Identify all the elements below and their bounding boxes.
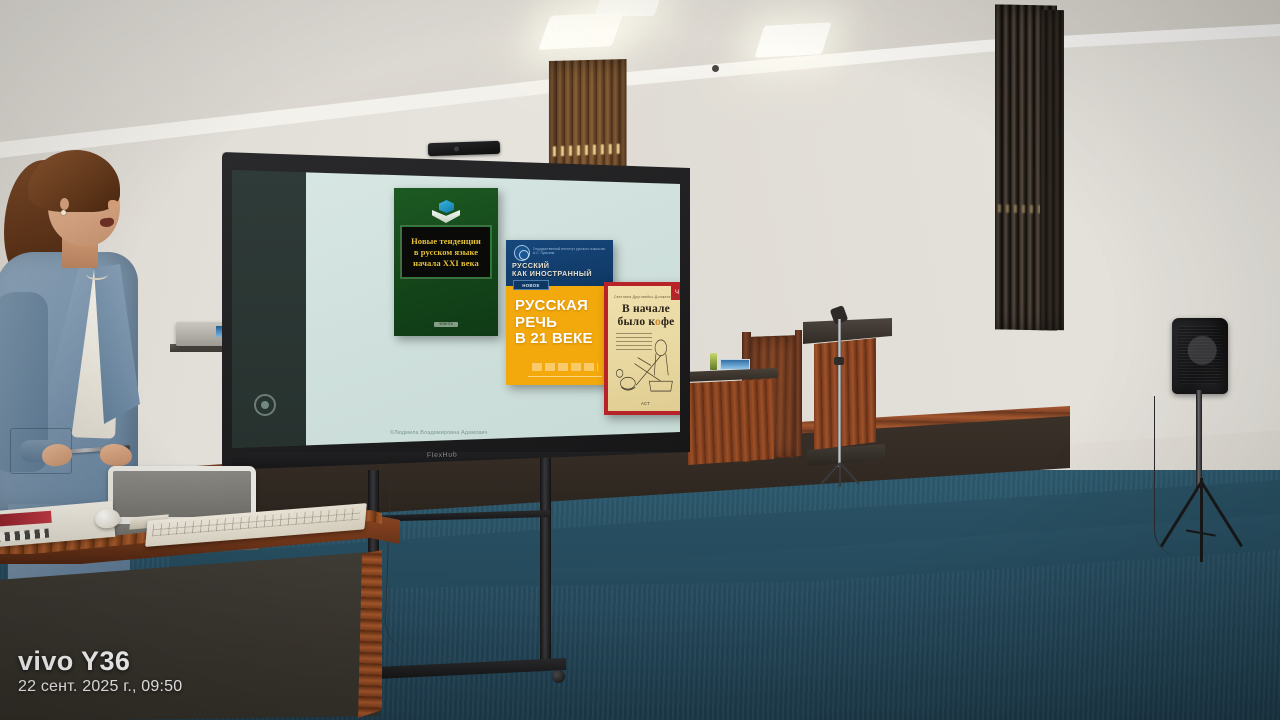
lecture-hall-photo: Новые тенденции в русском языке начала X… xyxy=(0,0,1280,720)
camera-watermark: vivo Y36 22 сент. 2025 г., 09:50 xyxy=(18,646,182,698)
necklace-icon xyxy=(86,268,108,280)
book2-subtitle-bar xyxy=(532,363,598,371)
cart-post-right xyxy=(540,458,551,670)
book3-title-line-1: В начале xyxy=(613,303,679,316)
speaker-cabinet xyxy=(1172,318,1228,394)
info-card xyxy=(720,359,750,370)
book-cover-russkaya-rech: Государственный институт русского языка … xyxy=(506,240,613,385)
book3-line-drawing-icon xyxy=(613,336,679,395)
ceiling-light-panel xyxy=(538,12,623,50)
ceiling-light-panel xyxy=(754,22,831,57)
book-cover-v-nachale-bylo-kofe: Ч Светлана Друговейко-Должанская В начал… xyxy=(604,282,680,415)
book1-title-line-2: в русском языке xyxy=(414,247,478,257)
book3-title: В начале было кофе xyxy=(613,303,679,329)
slide-credit-text: ©Людмила Владимировна Адамович xyxy=(390,430,488,436)
presenter-ear xyxy=(60,198,69,210)
book2-badge: НОВОЕ xyxy=(513,280,549,290)
institute-seal-icon xyxy=(514,245,530,261)
side-table xyxy=(684,368,778,474)
mic-pole xyxy=(838,319,841,467)
ceiling-light-panel xyxy=(594,0,660,16)
bottle-icon xyxy=(710,353,717,370)
book2-series-line-2: КАК ИНОСТРАННЫЙ xyxy=(512,270,611,278)
conference-camera-icon xyxy=(428,141,500,156)
slide-canvas: Новые тенденции в русском языке начала X… xyxy=(306,170,680,448)
watermark-brand: vivo Y36 xyxy=(18,646,182,676)
speaker-grille-icon xyxy=(1178,326,1222,384)
interactive-flat-panel[interactable]: Новые тенденции в русском языке начала X… xyxy=(222,152,690,470)
book1-title-panel: Новые тенденции в русском языке начала X… xyxy=(401,226,491,278)
speaker-tripod-legs xyxy=(1172,478,1234,568)
tv-brand-label: FlexHub xyxy=(427,452,457,460)
cart-caster-icon xyxy=(552,670,565,683)
side-table-body xyxy=(688,379,774,465)
book1-publisher: ФЛИНТА xyxy=(434,322,458,327)
book2-series: РУССКИЙ КАК ИНОСТРАННЫЙ xyxy=(512,262,611,279)
speaker-pole xyxy=(1196,390,1202,490)
wooden-slat-panel xyxy=(1040,10,1064,331)
power-indicator-icon[interactable] xyxy=(254,394,276,416)
book2-institute: Государственный институт русского языка … xyxy=(533,247,607,255)
pa-loudspeaker xyxy=(1172,318,1234,568)
earring-icon xyxy=(61,210,66,215)
book2-title: РУССКАЯ РЕЧЬ В 21 ВЕКЕ xyxy=(515,298,611,348)
book3-inner-panel: Ч Светлана Друговейко-Должанская В начал… xyxy=(608,286,680,411)
watermark-datetime: 22 сент. 2025 г., 09:50 xyxy=(18,676,182,698)
book3-title-line-2: было кофе xyxy=(613,316,679,329)
display-screen[interactable]: Новые тенденции в русском языке начала X… xyxy=(232,170,680,448)
publisher-logo-icon xyxy=(432,200,460,224)
book2-title-line-1: РУССКАЯ xyxy=(515,298,611,315)
book-cover-novye-tendencii: Новые тенденции в русском языке начала X… xyxy=(394,188,498,336)
book1-title-line-3: начала XXI века xyxy=(413,258,479,268)
book2-title-line-2: РЕЧЬ xyxy=(515,315,611,332)
book3-publisher: АСТ xyxy=(608,401,680,406)
book1-title-line-1: Новые тенденции xyxy=(411,236,481,246)
mic-tripod-legs xyxy=(818,463,862,493)
presentation-slide: Новые тенденции в русском языке начала X… xyxy=(232,170,680,448)
book2-title-line-3: В 21 ВЕКЕ xyxy=(515,331,611,348)
presenter-nose xyxy=(108,200,119,210)
book2-rule xyxy=(528,376,602,377)
mic-clamp xyxy=(834,357,844,365)
book2-header-band: Государственный институт русского языка … xyxy=(506,240,613,286)
ceiling-sensor-icon xyxy=(712,65,719,72)
microphone-stand xyxy=(818,305,862,495)
book3-author: Светлана Друговейко-Должанская xyxy=(608,295,680,299)
